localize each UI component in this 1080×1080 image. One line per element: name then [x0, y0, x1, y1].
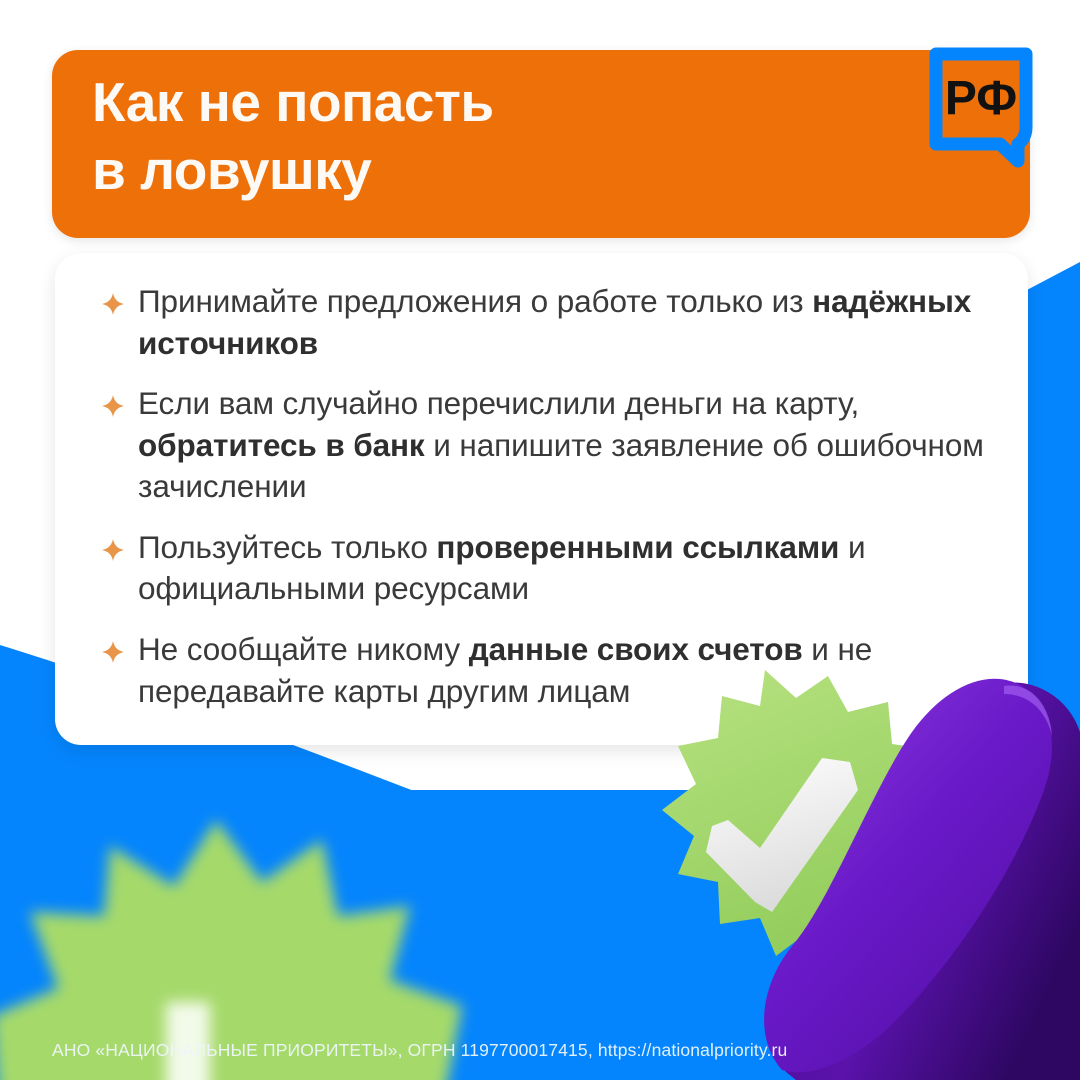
diamond-star-icon [102, 395, 124, 417]
rf-logo: РФ [922, 40, 1040, 168]
page-title: Как не попасть в ловушку [92, 68, 792, 204]
footer-legal-text: АНО «НАЦИОНАЛЬНЫЕ ПРИОРИТЕТЫ», ОГРН 1197… [52, 1040, 787, 1061]
list-item: Принимайте предложения о работе только и… [102, 281, 1002, 364]
infographic-poster: Как не попасть в ловушку РФ Принимайте п… [0, 0, 1080, 1080]
diamond-star-icon [102, 641, 124, 663]
list-item-text: Если вам случайно перечислили деньги на … [138, 383, 1002, 508]
title-banner: Как не попасть в ловушку [52, 50, 1030, 238]
illustration-phone-verified [600, 640, 1080, 1080]
list-item-text: Принимайте предложения о работе только и… [138, 281, 1002, 364]
rf-logo-letters: РФ [945, 72, 1017, 125]
list-item: Пользуйтесь только проверенными ссылками… [102, 527, 1002, 610]
diamond-star-icon [102, 539, 124, 561]
list-item: Если вам случайно перечислили деньги на … [102, 383, 1002, 508]
list-item-text: Пользуйтесь только проверенными ссылками… [138, 527, 1002, 610]
diamond-star-icon [102, 293, 124, 315]
